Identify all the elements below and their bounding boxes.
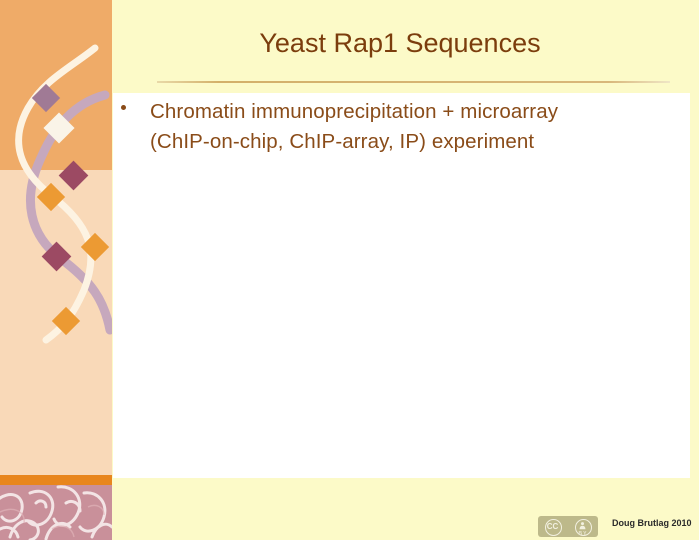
- author-credit: Doug Brutlag 2010: [612, 518, 692, 528]
- slide-canvas: Yeast Rap1 Sequences Chromatin immunopre…: [0, 0, 699, 540]
- decorative-sidebar: [0, 0, 112, 540]
- sidebar-orange-band: [0, 475, 112, 485]
- list-item: Chromatin immunoprecipitation + microarr…: [118, 97, 678, 157]
- sidebar-ribbons: [0, 0, 112, 360]
- cc-logo-icon: CC: [538, 516, 568, 537]
- cc-glyph-label: CC: [545, 519, 560, 534]
- page-title: Yeast Rap1 Sequences: [120, 28, 680, 59]
- bullet-dot-icon: [121, 105, 126, 110]
- content-panel: Chromatin immunoprecipitation + microarr…: [113, 93, 690, 478]
- sidebar-floral-pattern: [0, 485, 112, 540]
- bullet-line-1: Chromatin immunoprecipitation + microarr…: [150, 97, 678, 127]
- title-divider: [157, 81, 670, 83]
- cc-by-icon[interactable]: CC BY: [538, 516, 598, 537]
- bullet-list: Chromatin immunoprecipitation + microarr…: [118, 97, 678, 157]
- by-text-label: BY: [568, 531, 598, 537]
- bullet-line-2: (ChIP-on-chip, ChIP-array, IP) experimen…: [150, 127, 678, 157]
